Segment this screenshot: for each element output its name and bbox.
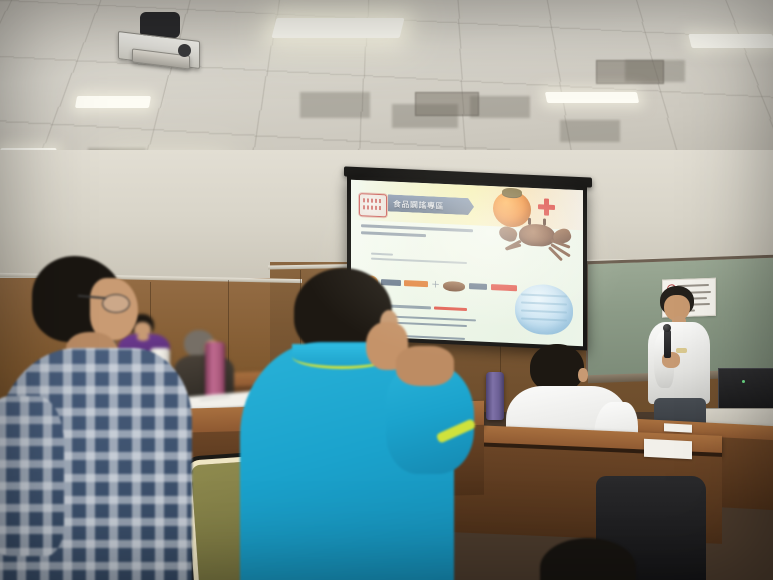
equation-crab-icon — [443, 281, 465, 292]
paper-handout — [644, 439, 692, 460]
crab-illustration — [497, 212, 575, 258]
crab-eye — [528, 218, 531, 225]
slide-source-note — [371, 253, 471, 268]
ear — [578, 368, 588, 382]
purple-water-bottle — [486, 372, 504, 420]
microphone-head-icon — [663, 324, 671, 332]
ceiling-tile-stain — [300, 92, 370, 118]
equation-left-highlight — [404, 280, 428, 287]
slide-question-text — [361, 224, 473, 243]
microphone[interactable] — [664, 330, 671, 358]
eyeglasses — [102, 294, 130, 313]
forearm — [396, 346, 454, 386]
ceiling-tile-stain — [470, 96, 530, 118]
slide-seal-stamp-icon — [359, 193, 387, 217]
ceiling-tile-stain — [560, 120, 620, 142]
neck — [137, 333, 149, 341]
paper-handout — [664, 423, 692, 432]
lecture-hall-photo: 食品闢謠專區 — [0, 0, 773, 580]
ceiling-air-vent — [415, 92, 479, 116]
ceiling-light-panel — [272, 18, 405, 38]
ceiling-light-panel — [75, 96, 151, 108]
presenter-wristwatch — [676, 348, 687, 353]
projector-lens — [178, 44, 191, 57]
equation-operator: ＋ — [431, 280, 440, 289]
ceiling-light-panel — [545, 92, 639, 103]
arm-sleeve — [0, 396, 64, 556]
head — [530, 344, 584, 392]
equation-right-text — [469, 283, 487, 290]
red-plus-icon — [538, 198, 555, 216]
equation-left-text — [381, 279, 401, 286]
equation-right-highlight — [491, 284, 517, 291]
crab-leg — [505, 244, 521, 251]
equipment-status-light — [742, 380, 745, 383]
crab-shell — [519, 223, 555, 247]
ceiling-light-panel — [688, 34, 773, 48]
ceiling-air-vent — [596, 60, 664, 84]
crab-eye — [543, 218, 546, 225]
